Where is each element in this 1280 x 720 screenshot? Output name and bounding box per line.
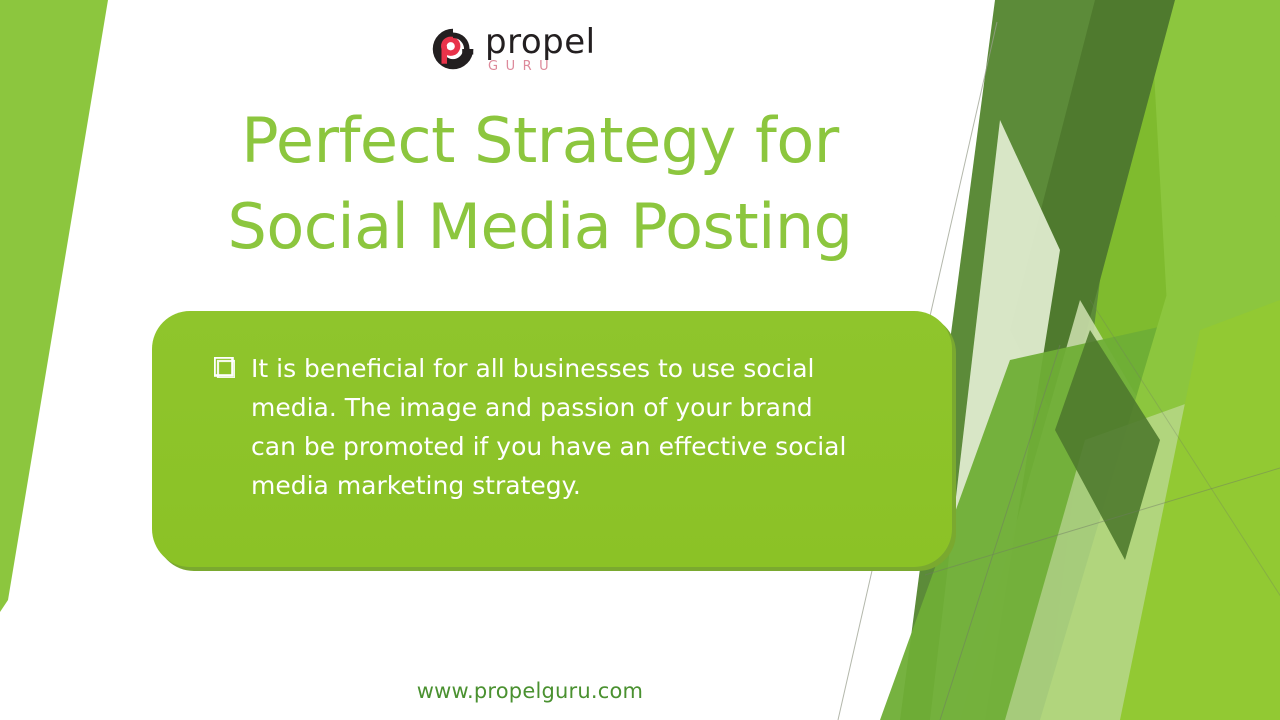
decor-bright-lower-right (1040, 215, 1280, 720)
decor-hairline-4 (1090, 300, 1280, 600)
decor-bright-right-slab (1110, 0, 1280, 720)
page-title: Perfect Strategy for Social Media Postin… (100, 98, 980, 270)
callout-box: It is beneficial for all businesses to u… (152, 311, 952, 567)
decor-hairline-2 (940, 345, 1060, 720)
logo-brand-text: propel (485, 26, 596, 59)
decor-bright-right-slab-2 (1010, 0, 1190, 720)
decor-pale-overlay (1005, 370, 1280, 720)
hollow-square-bullet-icon (214, 357, 235, 378)
callout-body-text: It is beneficial for all businesses to u… (251, 349, 851, 505)
decor-pale-fan (960, 300, 1180, 720)
propel-guru-circular-g-icon (430, 26, 476, 72)
decor-hairline-3 (925, 468, 1280, 575)
presentation-slide: propel GURU Perfect Strategy for Social … (0, 0, 1280, 720)
decor-bright-overlay-right (1120, 300, 1280, 720)
decor-deep-triangle (1010, 0, 1175, 430)
decor-deep-wedge-lower (1055, 330, 1160, 560)
footer-website-url[interactable]: www.propelguru.com (0, 678, 1060, 704)
logo-wordmark: propel GURU (485, 24, 596, 74)
left-green-wedge (0, 0, 108, 612)
logo-subbrand-text: GURU (485, 59, 596, 74)
bullet-list-item: It is beneficial for all businesses to u… (214, 349, 851, 505)
brand-logo: propel GURU (430, 18, 630, 80)
